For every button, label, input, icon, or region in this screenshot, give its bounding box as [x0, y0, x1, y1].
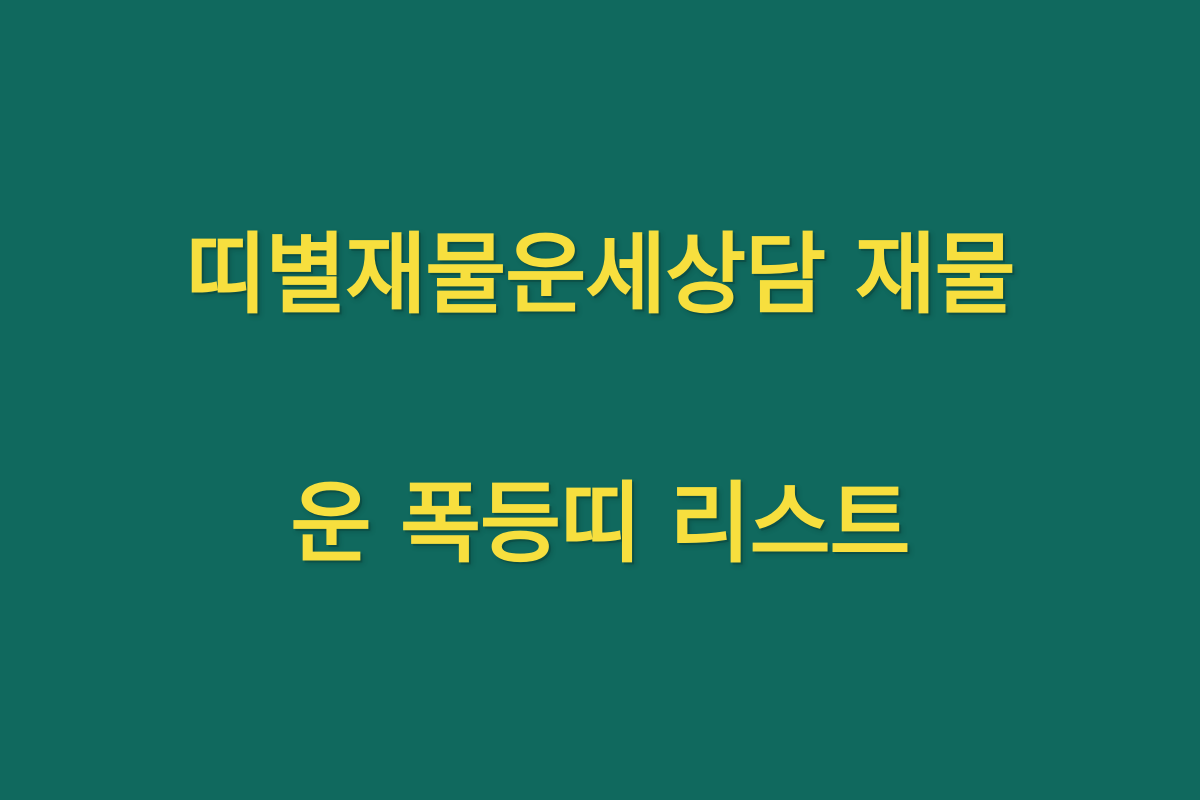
headline-line-2: 운 폭등띠 리스트 [70, 462, 1130, 587]
page-title: 띠별재물운세상담 재물 운 폭등띠 리스트 [70, 88, 1130, 713]
banner-background: 띠별재물운세상담 재물 운 폭등띠 리스트 [0, 0, 1200, 800]
headline-line-1: 띠별재물운세상담 재물 [70, 213, 1130, 338]
